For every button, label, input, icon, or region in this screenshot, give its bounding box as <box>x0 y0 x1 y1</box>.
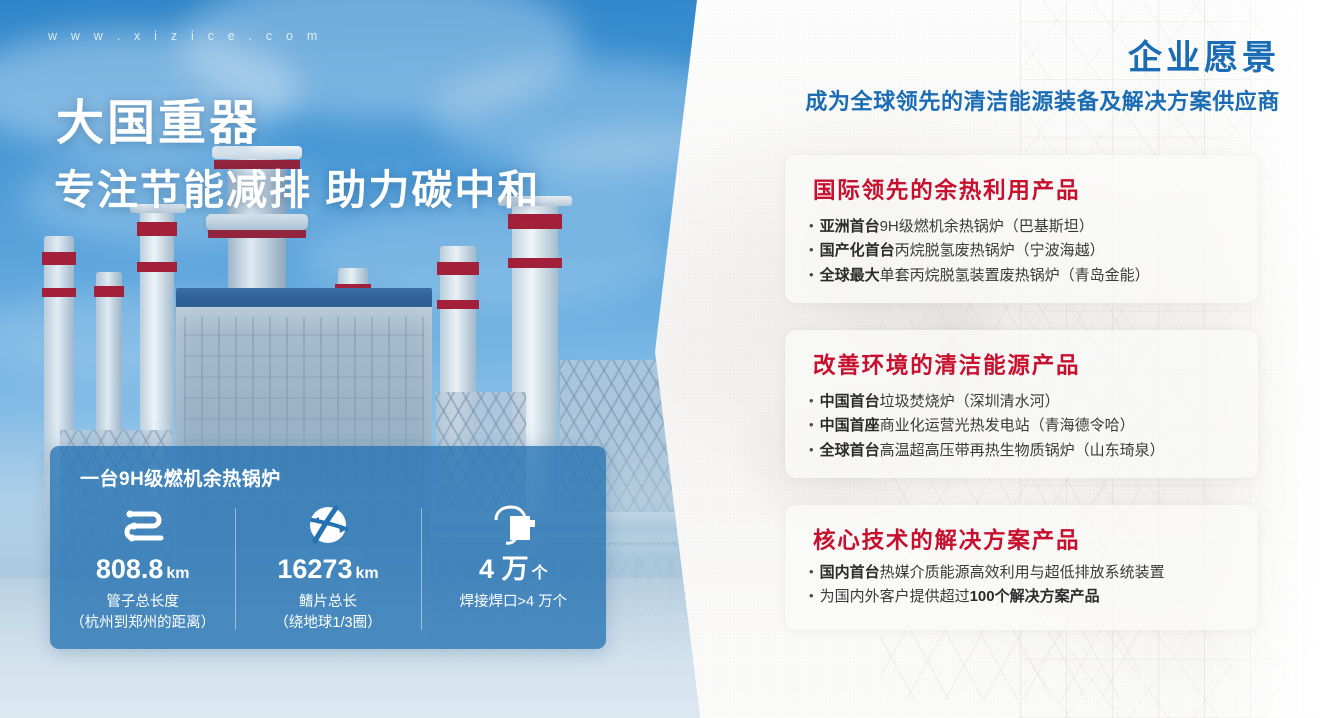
list-item: •国内首台热媒介质能源高效利用与超低排放系统装置 <box>809 561 1242 585</box>
stack-band <box>508 214 562 229</box>
slide-root: w w w . x i z i c e . c o m 大国重器 专注节能减排 … <box>0 0 1322 718</box>
stack-band <box>42 288 76 297</box>
stats-row: 808.8km 管子总长度 （杭州到郑州的距离） 16273km <box>50 502 606 652</box>
bullet-dot: • <box>809 239 814 261</box>
section-title: 企业愿景 <box>1128 30 1280 79</box>
section-subtitle: 成为全球领先的清洁能源装备及解决方案供应商 <box>805 84 1280 116</box>
page-title: 大国重器 <box>56 100 260 148</box>
stat-item-fin-length: 16273km 鳍片总长 （绕地球1/3圈） <box>235 502 420 652</box>
stack-band <box>437 300 479 309</box>
bullet-dot: • <box>809 390 814 412</box>
card-heading: 改善环境的清洁能源产品 <box>813 348 1080 380</box>
stat-value: 4 万个 <box>479 556 548 583</box>
bullet-dot: • <box>809 585 814 607</box>
stat-value: 808.8km <box>96 556 190 583</box>
stat-caption: 管子总长度 （杭州到郑州的距离） <box>70 592 215 634</box>
stack-band <box>137 262 177 272</box>
list-item: •亚洲首台9H级燃机余热锅炉（巴基斯坦） <box>809 215 1242 239</box>
vision-card[interactable]: 国际领先的余热利用产品 •亚洲首台9H级燃机余热锅炉（巴基斯坦） •国产化首台丙… <box>785 155 1258 303</box>
stack-band <box>137 222 177 236</box>
card-bullet-list: •中国首台垃圾焚烧炉（深圳清水河） •中国首座商业化运营光热发电站（青海德令哈）… <box>809 390 1242 463</box>
card-bullet-list: •国内首台热媒介质能源高效利用与超低排放系统装置 •为国内外客户提供超过100个… <box>809 561 1242 610</box>
bullet-dot: • <box>809 264 814 286</box>
vision-card[interactable]: 改善环境的清洁能源产品 •中国首台垃圾焚烧炉（深圳清水河） •中国首座商业化运营… <box>785 330 1258 478</box>
list-item: •国产化首台丙烷脱氢废热锅炉（宁波海越） <box>809 239 1242 263</box>
card-heading: 国际领先的余热利用产品 <box>813 173 1080 205</box>
stat-caption: 焊接焊口>4 万个 <box>460 592 568 613</box>
card-bullet-list: •亚洲首台9H级燃机余热锅炉（巴基斯坦） •国产化首台丙烷脱氢废热锅炉（宁波海越… <box>809 215 1242 288</box>
main-tower-band <box>208 230 306 238</box>
list-item: •为国内外客户提供超过100个解决方案产品 <box>809 585 1242 609</box>
page-subtitle: 专注节能减排 助力碳中和 <box>54 170 540 211</box>
stack-band <box>94 286 124 297</box>
welding-mask-icon <box>490 502 536 548</box>
site-watermark: w w w . x i z i c e . c o m <box>48 29 322 43</box>
stats-panel: 一台9H级燃机余热锅炉 808.8km 管子总长度 （杭州到郑州的距离） <box>50 446 606 649</box>
stat-item-pipe-length: 808.8km 管子总长度 （杭州到郑州的距离） <box>50 502 235 652</box>
list-item: •全球最大单套丙烷脱氢装置废热锅炉（青岛金能） <box>809 264 1242 288</box>
card-heading: 核心技术的解决方案产品 <box>813 523 1080 555</box>
list-item: •全球首台高温超高压带再热生物质锅炉（山东琦泉） <box>809 439 1242 463</box>
bullet-dot: • <box>809 439 814 461</box>
stat-value: 16273km <box>277 556 378 583</box>
stack-band <box>42 252 76 265</box>
bullet-dot: • <box>809 561 814 583</box>
list-item: •中国首座商业化运营光热发电站（青海德令哈） <box>809 414 1242 438</box>
stack-band <box>437 262 479 275</box>
bullet-dot: • <box>809 215 814 237</box>
bullet-dot: • <box>809 414 814 436</box>
stat-item-weld-joints: 4 万个 焊接焊口>4 万个 <box>421 502 606 652</box>
stack-band <box>508 258 562 268</box>
stat-caption: 鳍片总长 （绕地球1/3圈） <box>274 592 381 634</box>
coiled-pipe-icon <box>117 502 169 548</box>
globe-arrow-icon <box>306 502 350 548</box>
stats-panel-title: 一台9H级燃机余热锅炉 <box>80 464 281 491</box>
list-item: •中国首台垃圾焚烧炉（深圳清水河） <box>809 390 1242 414</box>
main-tower-deck <box>206 214 308 230</box>
vision-card[interactable]: 核心技术的解决方案产品 •国内首台热媒介质能源高效利用与超低排放系统装置 •为国… <box>785 505 1258 630</box>
